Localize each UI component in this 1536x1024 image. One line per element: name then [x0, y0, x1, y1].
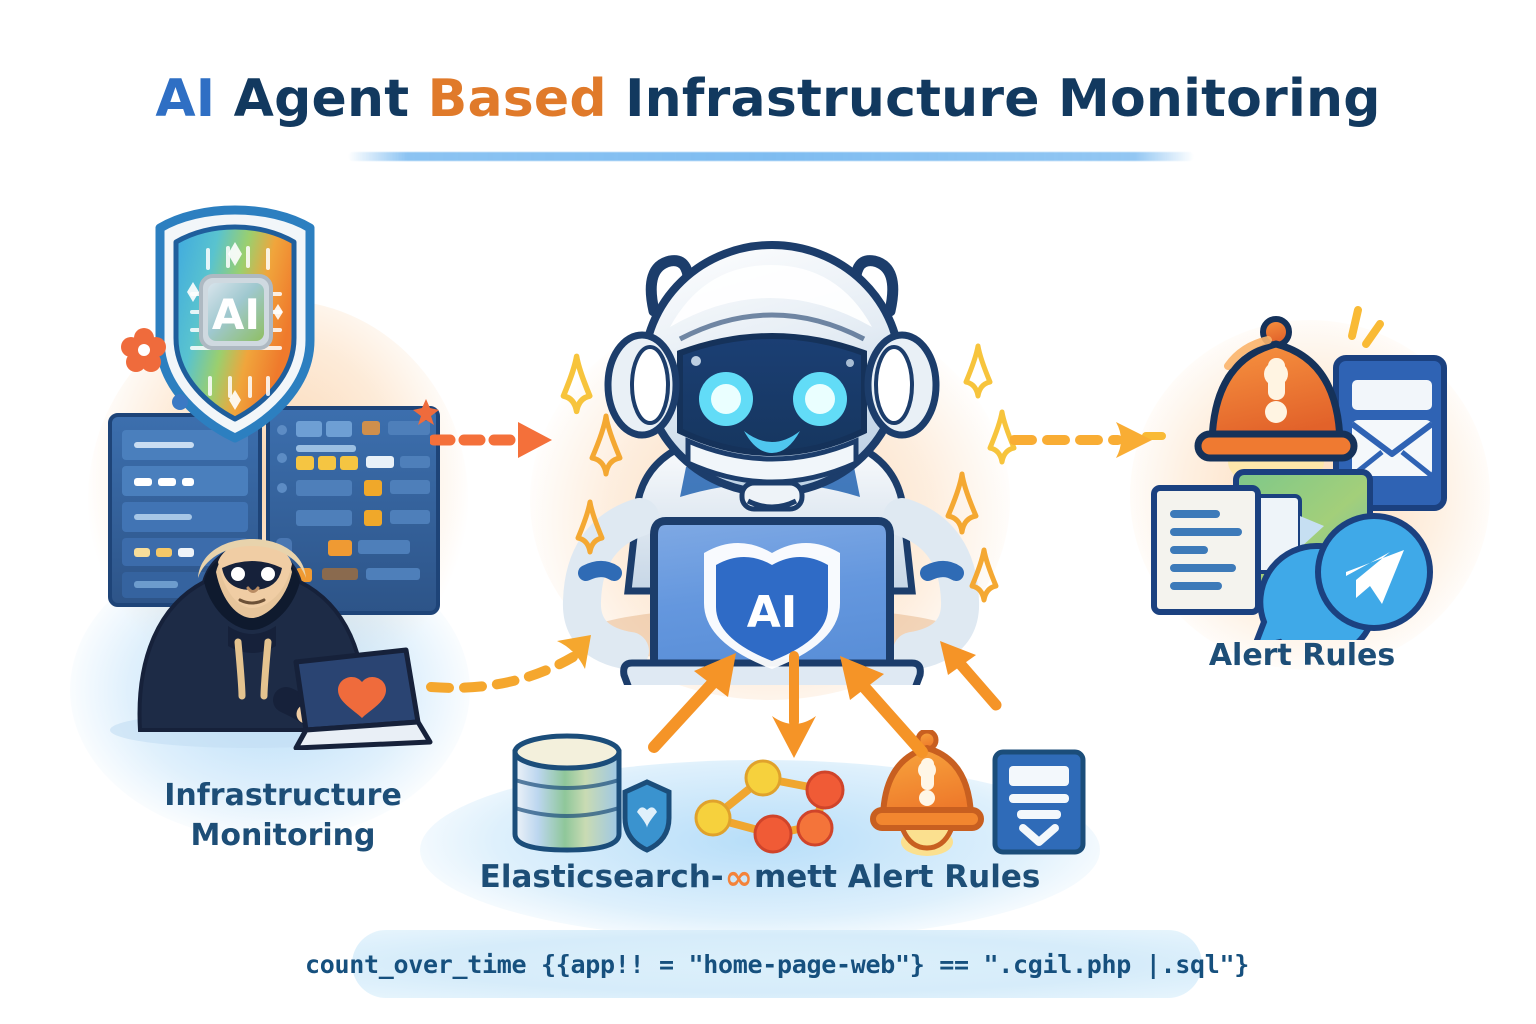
svg-text:AI: AI — [212, 290, 260, 339]
network-graph-icon — [696, 761, 843, 852]
sparkle-icon — [966, 346, 1014, 462]
sparkle-icon — [563, 356, 589, 411]
title-block: AI Agent Based Infrastructure Monitoring — [0, 72, 1536, 127]
infinity-glyph-icon: ∞ — [725, 858, 753, 898]
title-word-agent: Agent — [234, 69, 410, 129]
title-word-based: Based — [428, 69, 607, 129]
title-word-infra: Infrastructure Monitoring — [625, 69, 1381, 129]
arrow-bell-to-agent — [828, 648, 938, 758]
label-es-prefix: Elasticsearch- — [480, 859, 724, 895]
label-infra-line2: Monitoring — [118, 816, 448, 856]
laptop-icon — [296, 650, 430, 748]
sparkle-icon — [578, 416, 620, 552]
arrow-agent-to-network — [760, 650, 830, 765]
arrow-infra-to-agent — [430, 410, 560, 470]
sparkle-icon — [948, 474, 996, 600]
label-infra-line1: Infrastructure — [118, 776, 448, 816]
dot-decoration — [172, 394, 188, 410]
arrow-filter-to-agent — [930, 635, 1010, 715]
query-text: count_over_time {{app!! = "home-page-web… — [305, 950, 1249, 979]
label-infrastructure-monitoring: Infrastructure Monitoring — [118, 776, 448, 855]
title-word-ai: AI — [155, 69, 215, 129]
infrastructure-group: AI — [100, 190, 460, 750]
filter-card-icon — [995, 752, 1083, 852]
query-pill: count_over_time {{app!! = "home-page-web… — [352, 930, 1202, 998]
label-es-suffix: mett Alert Rules — [754, 859, 1040, 895]
infographic-canvas: AI Agent Based Infrastructure Monitoring — [0, 0, 1536, 1024]
arrow-hacker-to-agent — [425, 625, 625, 715]
bell-alert-icon — [1198, 319, 1354, 488]
alert-channels-group — [1140, 300, 1470, 640]
arrow-agent-to-alerts — [1010, 412, 1160, 468]
page-title: AI Agent Based Infrastructure Monitoring — [0, 72, 1536, 127]
shield-check-icon — [625, 782, 669, 850]
document-icon — [1154, 488, 1258, 612]
label-elasticsearch-alert-rules: Elasticsearch-∞mett Alert Rules — [430, 858, 1090, 898]
sparkle-group — [520, 330, 1040, 650]
title-underline — [348, 152, 1194, 161]
arrow-db-to-agent — [640, 645, 750, 755]
label-alert-rules: Alert Rules — [1152, 638, 1452, 673]
